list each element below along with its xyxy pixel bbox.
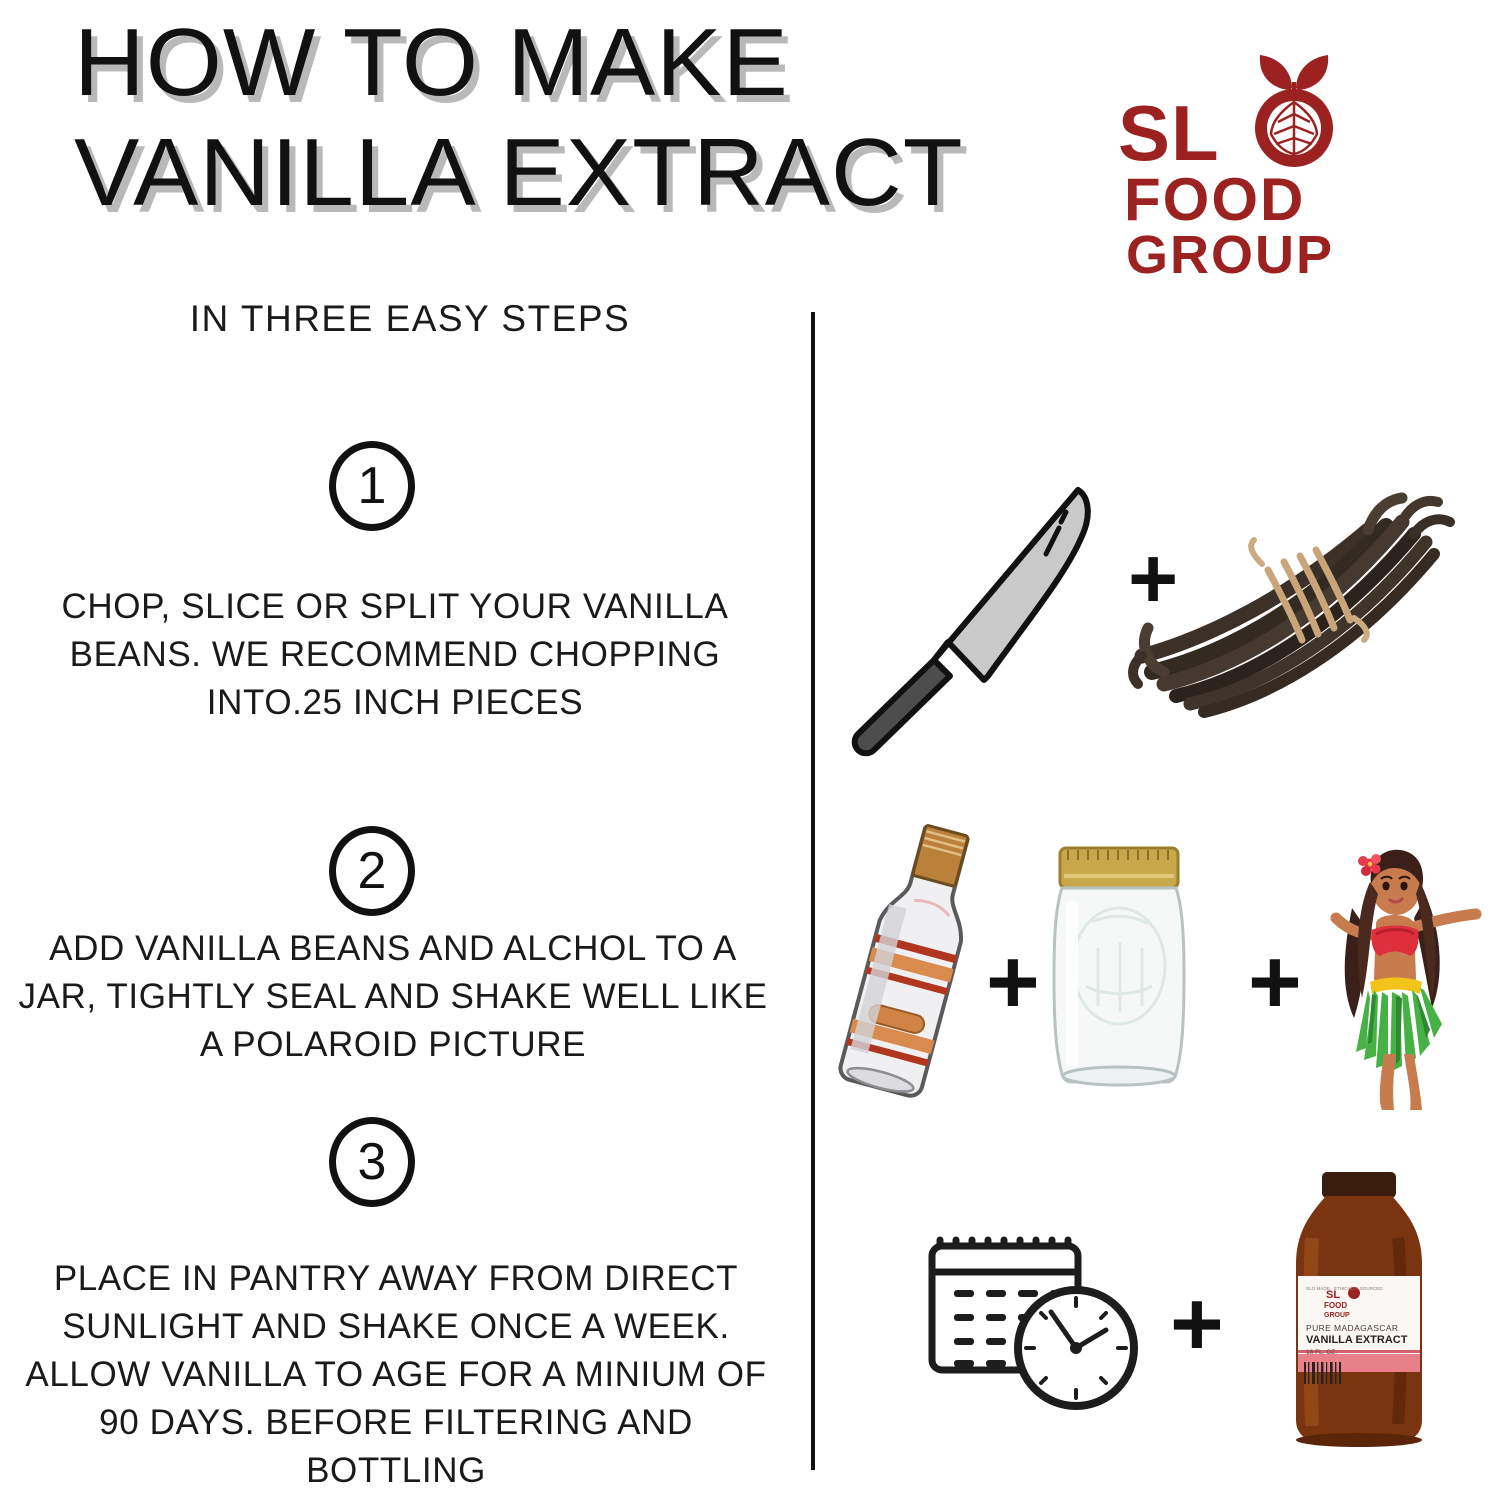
logo-text-food: FOOD — [1124, 170, 1305, 230]
step-number-badge-3: 3 — [329, 1117, 415, 1207]
svg-text:GROUP: GROUP — [1324, 1312, 1350, 1319]
apple-leaf-icon — [1238, 48, 1350, 168]
plus-operator-2a: + — [986, 936, 1040, 1028]
page-title: HOW TO MAKE VANILLA EXTRACT — [74, 8, 954, 228]
logo-text-slo: SL — [1118, 94, 1220, 172]
calendar-clock-icon — [918, 1218, 1158, 1438]
title-line-1: HOW TO MAKE — [74, 8, 972, 118]
step-number-badge-1: 1 — [329, 441, 415, 531]
svg-text:VANILLA EXTRACT: VANILLA EXTRACT — [1306, 1334, 1408, 1346]
svg-text:PURE MADAGASCAR: PURE MADAGASCAR — [1306, 1323, 1398, 1333]
vertical-divider — [811, 312, 815, 1470]
svg-text:16 FL. OZ.: 16 FL. OZ. — [1306, 1349, 1337, 1356]
svg-text:FOOD: FOOD — [1324, 1301, 1347, 1310]
vanilla-extract-bottle-icon: SL FOOD GROUP PURE MADAGASCAR VANILLA EX… — [1282, 1168, 1437, 1448]
infographic-poster: HOW TO MAKE VANILLA EXTRACT SL FOOD GROU… — [0, 0, 1500, 1500]
step-number-2: 2 — [358, 845, 387, 897]
step-description-3: PLACE IN PANTRY AWAY FROM DIRECT SUNLIGH… — [6, 1255, 786, 1495]
step-number-3: 3 — [358, 1136, 387, 1188]
step-number-badge-2: 2 — [329, 826, 415, 916]
hula-dancer-icon — [1308, 838, 1488, 1118]
vanilla-bean-bundle-icon — [1118, 468, 1478, 738]
svg-text:SLO MADE · ETHICALLY SOURCED: SLO MADE · ETHICALLY SOURCED — [1306, 1286, 1383, 1291]
step-description-1: CHOP, SLICE OR SPLIT YOUR VANILLA BEANS.… — [30, 583, 760, 727]
title-line-2: VANILLA EXTRACT — [74, 118, 972, 228]
mason-jar-icon — [1036, 836, 1201, 1101]
step-number-1: 1 — [358, 460, 387, 512]
plus-operator-3a: + — [1170, 1278, 1224, 1370]
step-description-2: ADD VANILLA BEANS AND ALCHOL TO A JAR, T… — [8, 925, 778, 1069]
vodka-bottle-icon — [822, 812, 1002, 1112]
subtitle: IN THREE EASY STEPS — [60, 298, 760, 340]
brand-logo: SL FOOD GROUP — [1110, 48, 1410, 288]
plus-operator-2b: + — [1248, 936, 1302, 1028]
logo-text-group: GROUP — [1126, 228, 1334, 282]
